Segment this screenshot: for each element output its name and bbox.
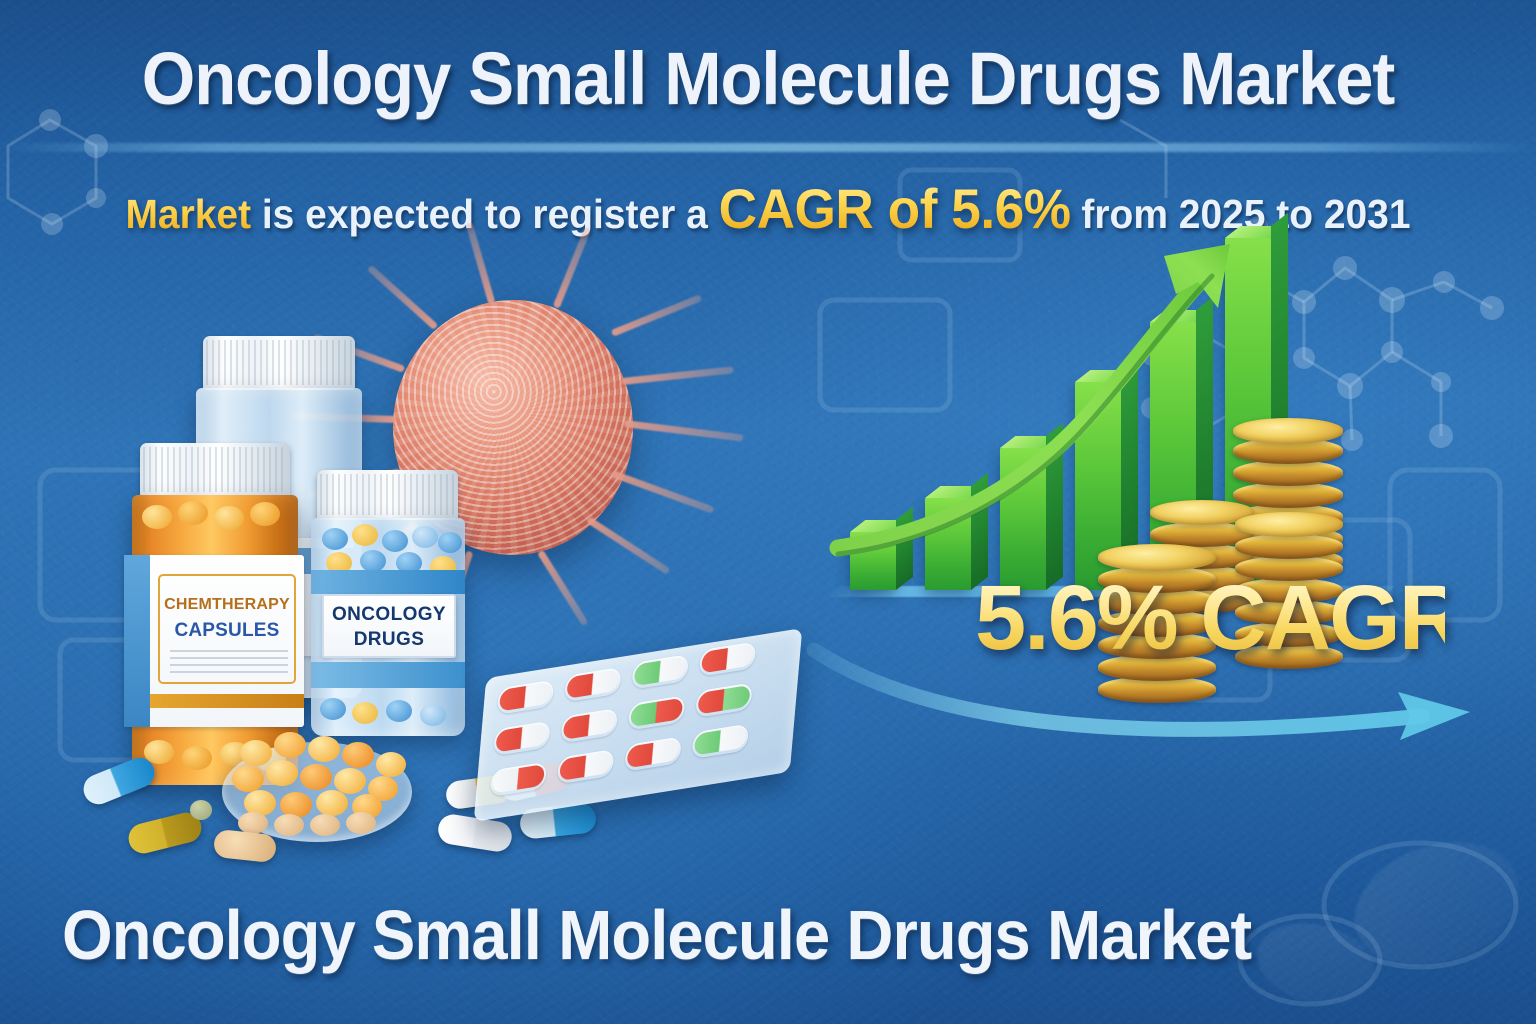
bottle-label-chemo-inner: CHEMTHERAPY CAPSULES bbox=[158, 574, 296, 684]
bottle-label-sidestrip-chemo bbox=[124, 555, 150, 727]
infographic-poster: Oncology Small Molecule Drugs Market Mar… bbox=[0, 0, 1536, 1024]
bottle-label-botstrip-oncology bbox=[311, 662, 465, 688]
bottle-label-chemo-line2: CAPSULES bbox=[160, 620, 294, 642]
subtitle-cagr-metric: CAGR of 5.6% bbox=[719, 177, 1071, 240]
footer-title: Oncology Small Molecule Drugs Market bbox=[62, 895, 1251, 975]
bottle-label-oncology-line1: ONCOLOGY bbox=[324, 604, 454, 626]
bottle-label-botstrip-chemo bbox=[150, 694, 304, 708]
sweep-arrow-icon bbox=[810, 630, 1510, 760]
subtitle-lead-highlight: Market bbox=[125, 191, 251, 237]
bottle-label-chemo-fineprint bbox=[170, 650, 288, 676]
bottle-cap-chemo bbox=[140, 443, 290, 497]
page-title: Oncology Small Molecule Drugs Market bbox=[54, 36, 1482, 121]
bottle-label-topstrip-oncology bbox=[311, 570, 465, 594]
bottle-label-oncology: ONCOLOGY DRUGS bbox=[322, 594, 456, 658]
blister-pack bbox=[474, 628, 803, 822]
bottle-label-oncology-line2: DRUGS bbox=[324, 629, 454, 651]
bottle-cap-oncology bbox=[317, 470, 458, 520]
subtitle-mid-text: is expected to register a bbox=[251, 191, 719, 237]
bottle-label-chemo-line1: CHEMTHERAPY bbox=[160, 596, 294, 614]
bottle-cap-back bbox=[203, 336, 355, 390]
title-divider bbox=[0, 143, 1536, 152]
